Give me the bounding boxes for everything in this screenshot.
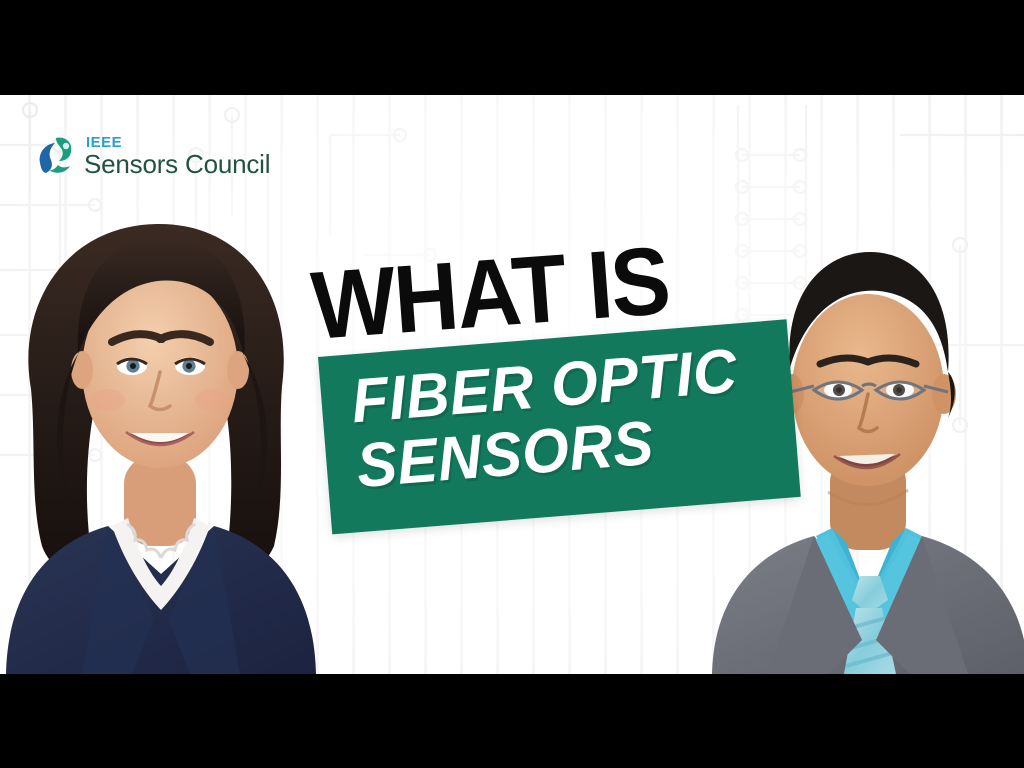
headline-panel-text: FIBER OPTIC SENSORS [349,341,756,498]
speaker-left-photo [0,174,336,674]
logo-wordmark: IEEE Sensors Council [84,135,270,177]
video-frame: IEEE Sensors Council [0,0,1024,768]
ieee-sensors-council-logo: IEEE Sensors Council [36,133,270,179]
logo-acronym: IEEE [86,135,270,150]
sensors-council-s-mark-icon [36,133,78,179]
headline-green-panel: FIBER OPTIC SENSORS [318,319,801,534]
letterbox-bar-top [0,0,1024,95]
letterbox-bar-bottom [0,674,1024,768]
video-content-area: IEEE Sensors Council [0,95,1024,674]
